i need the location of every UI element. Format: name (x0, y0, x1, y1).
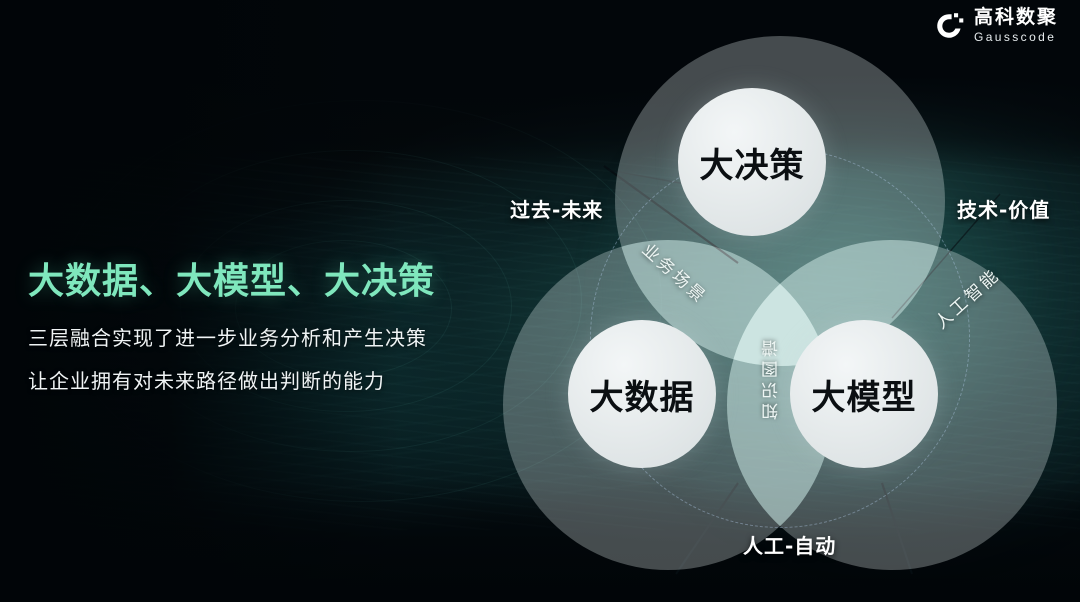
page-title: 大数据、大模型、大决策 (28, 252, 458, 304)
slide-canvas: 高科数聚 Gausscode 大数据、大模型、大决策 三层融合实现了进一步业务分… (0, 0, 1080, 602)
venn-core-decision-label: 大决策 (700, 138, 805, 187)
axis-label-tech-value: 技术-价值 (957, 194, 1050, 223)
headline-block: 大数据、大模型、大决策 三层融合实现了进一步业务分析和产生决策 让企业拥有对未来… (28, 252, 458, 408)
venn-core-bigdata-label: 大数据 (590, 370, 695, 419)
venn-core-bigmodel-label: 大模型 (812, 370, 917, 419)
venn-core-bigmodel[interactable]: 大模型 (790, 320, 938, 468)
venn-core-bigdata[interactable]: 大数据 (568, 320, 716, 468)
axis-label-past-future: 过去-未来 (510, 194, 603, 223)
subtitle-line-1: 三层融合实现了进一步业务分析和产生决策 (28, 322, 458, 351)
axis-label-manual-automatic: 人工-自动 (743, 530, 836, 559)
venn-overlap-label-knowledge-graph: 知识图谱 (764, 336, 784, 420)
subtitle-line-2: 让企业拥有对未来路径做出判断的能力 (28, 365, 458, 394)
venn-diagram: 大决策 大数据 大模型 业务场景 人工智能 知识图谱 (480, 18, 1080, 578)
venn-core-decision[interactable]: 大决策 (678, 88, 826, 236)
